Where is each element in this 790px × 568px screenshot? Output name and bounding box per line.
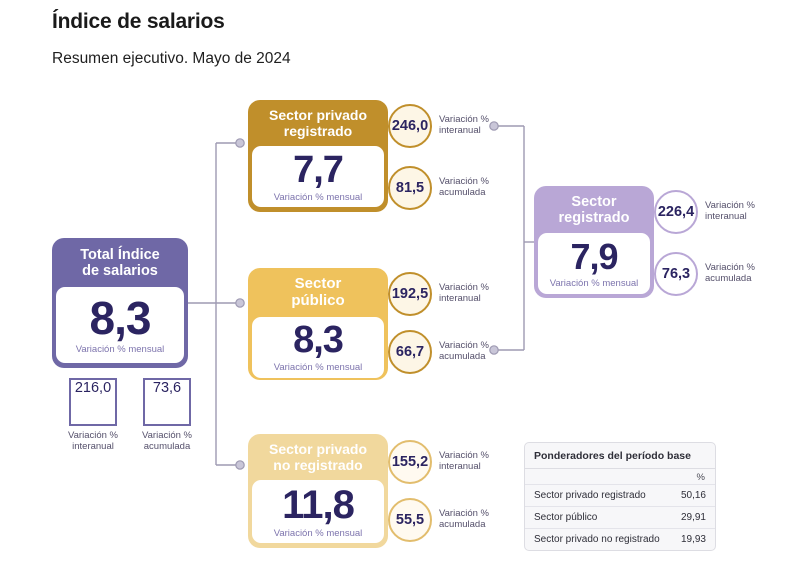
card-sr-title: Sectorregistrado [534, 186, 654, 233]
metric-spu-acumulada[interactable]: 66,7 Variación %acumulada [388, 330, 489, 374]
metric-spr-interanual-label: Variación %interanual [439, 115, 489, 137]
metric-spr-interanual-value: 246,0 [388, 104, 432, 148]
connector-node-spr [236, 139, 244, 147]
metric-spu-interanual-label: Variación %interanual [439, 283, 489, 305]
metric-spr-interanual[interactable]: 246,0 Variación %interanual [388, 104, 489, 148]
metric-total-acumulada-value: 73,6 [143, 378, 191, 426]
metric-spnr-interanual-label: Variación %interanual [439, 451, 489, 473]
table-row: Sector privado no registrado19,93 [525, 529, 715, 551]
card-spnr-caption: Variación % mensual [274, 529, 363, 539]
card-spu-title: Sectorpúblico [248, 268, 388, 317]
metric-spnr-acumulada-label: Variación %acumulada [439, 509, 489, 531]
card-spr-title: Sector privadoregistrado [248, 100, 388, 146]
table-row: Sector privado registrado50,16 [525, 485, 715, 507]
metric-total-acumulada[interactable]: 73,6 Variación %acumulada [136, 378, 198, 453]
weights-row-value: 50,16 [671, 485, 715, 507]
metric-spu-interanual-value: 192,5 [388, 272, 432, 316]
weights-row-value: 29,91 [671, 507, 715, 529]
weights-row-label: Sector público [525, 507, 671, 529]
card-spr-caption: Variación % mensual [274, 193, 363, 203]
card-spnr-title: Sector privadono registrado [248, 434, 388, 480]
metric-total-interanual-label: Variación %interanual [62, 431, 124, 453]
metric-spu-acumulada-label: Variación %acumulada [439, 341, 489, 363]
card-sector-publico[interactable]: Sectorpúblico 8,3 Variación % mensual [248, 268, 388, 380]
card-total-caption: Variación % mensual [76, 345, 165, 355]
card-sr-caption: Variación % mensual [550, 279, 639, 289]
connector-node-right-spu [490, 346, 498, 354]
weights-row-label: Sector privado no registrado [525, 529, 671, 551]
table-row: Sector público29,91 [525, 507, 715, 529]
card-sector-registrado[interactable]: Sectorregistrado 7,9 Variación % mensual [534, 186, 654, 298]
card-total-title: Total Índicede salarios [52, 238, 188, 287]
metric-spr-acumulada-value: 81,5 [388, 166, 432, 210]
metric-spnr-acumulada-value: 55,5 [388, 498, 432, 542]
card-spu-caption: Variación % mensual [274, 363, 363, 373]
card-sector-privado-registrado[interactable]: Sector privadoregistrado 7,7 Variación %… [248, 100, 388, 212]
weights-row-label: Sector privado registrado [525, 485, 671, 507]
card-total-body: 8,3 Variación % mensual [56, 287, 184, 363]
metric-spnr-interanual[interactable]: 155,2 Variación %interanual [388, 440, 489, 484]
card-spnr-value: 11,8 [282, 485, 354, 525]
metric-sr-interanual-value: 226,4 [654, 190, 698, 234]
page-title: Índice de salarios [52, 10, 225, 34]
page-subtitle: Resumen ejecutivo. Mayo de 2024 [52, 50, 291, 68]
metric-sr-acumulada[interactable]: 76,3 Variación %acumulada [654, 252, 755, 296]
metric-spr-acumulada[interactable]: 81,5 Variación %acumulada [388, 166, 489, 210]
connector-node-right-spr [490, 122, 498, 130]
weights-row-value: 19,93 [671, 529, 715, 551]
metric-sr-interanual-label: Variación %interanual [705, 201, 755, 223]
weights-table: Ponderadores del período base % Sector p… [524, 442, 716, 551]
weights-table-grid: Sector privado registrado50,16Sector púb… [525, 484, 715, 550]
card-total-indice[interactable]: Total Índicede salarios 8,3 Variación % … [52, 238, 188, 368]
metric-spnr-interanual-value: 155,2 [388, 440, 432, 484]
card-sr-body: 7,9 Variación % mensual [538, 233, 650, 294]
metric-spnr-acumulada[interactable]: 55,5 Variación %acumulada [388, 498, 489, 542]
connector-node-spu [236, 299, 244, 307]
card-spu-value: 8,3 [293, 321, 343, 359]
card-spr-body: 7,7 Variación % mensual [252, 146, 384, 207]
card-spr-value: 7,7 [293, 151, 343, 189]
metric-spr-acumulada-label: Variación %acumulada [439, 177, 489, 199]
infographic-root: Índice de salarios Resumen ejecutivo. Ma… [0, 0, 790, 568]
weights-table-unit: % [525, 469, 715, 484]
metric-spu-interanual[interactable]: 192,5 Variación %interanual [388, 272, 489, 316]
card-total-value: 8,3 [90, 295, 151, 341]
weights-table-title: Ponderadores del período base [525, 443, 715, 469]
card-spnr-body: 11,8 Variación % mensual [252, 480, 384, 543]
metric-total-interanual-value: 216,0 [69, 378, 117, 426]
metric-total-interanual[interactable]: 216,0 Variación %interanual [62, 378, 124, 453]
metric-total-acumulada-label: Variación %acumulada [136, 431, 198, 453]
card-sr-value: 7,9 [570, 239, 617, 275]
card-sector-privado-no-registrado[interactable]: Sector privadono registrado 11,8 Variaci… [248, 434, 388, 548]
card-spu-body: 8,3 Variación % mensual [252, 317, 384, 378]
metric-sr-acumulada-value: 76,3 [654, 252, 698, 296]
metric-sr-interanual[interactable]: 226,4 Variación %interanual [654, 190, 755, 234]
connector-node-spnr [236, 461, 244, 469]
metric-sr-acumulada-label: Variación %acumulada [705, 263, 755, 285]
metric-spu-acumulada-value: 66,7 [388, 330, 432, 374]
